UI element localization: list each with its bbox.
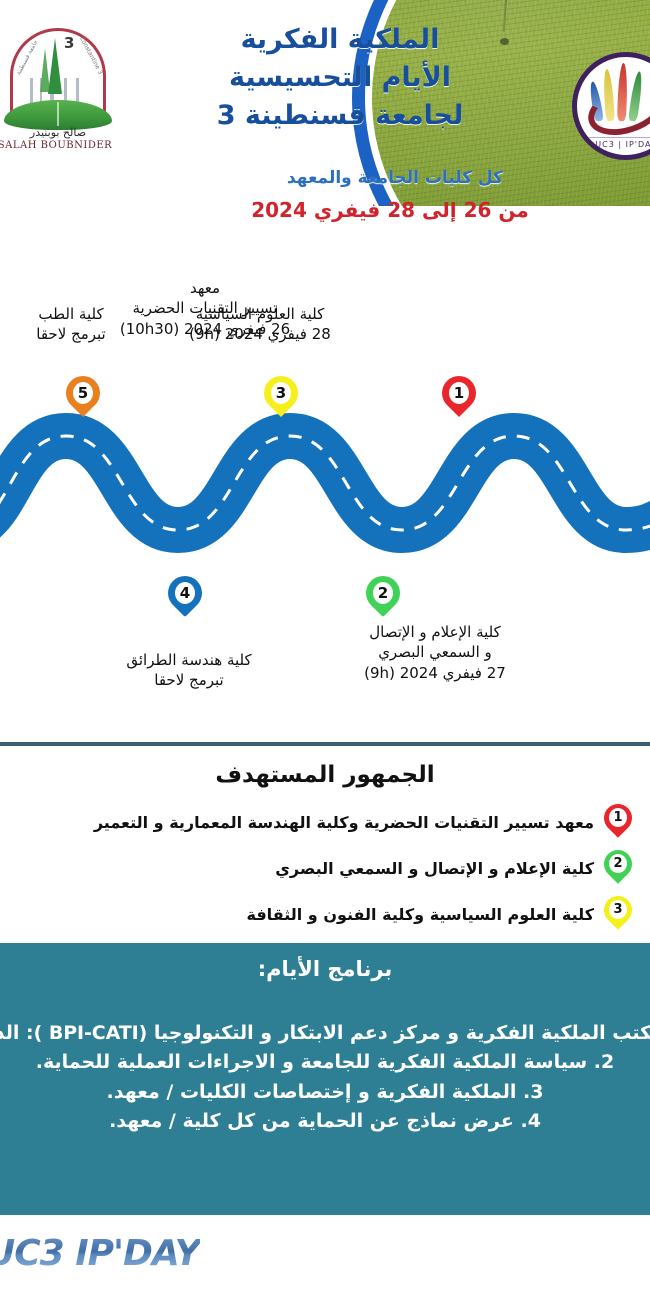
- stop-2-line-3: 27 فيفري 2024 (9h): [330, 663, 540, 683]
- logo-badge-number: 3: [64, 34, 74, 52]
- audience-pin-1[interactable]: 1: [604, 804, 632, 840]
- page-title-line3: لجامعة قسنطينة 3: [170, 100, 510, 132]
- audience-pin-2[interactable]: 2: [604, 850, 632, 886]
- logo-name-french: SALAH BOUBNIDER: [0, 140, 114, 151]
- audience-row-1: 1 معهد تسيير التقنيات الحضرية وكلية الهن…: [32, 804, 632, 840]
- program-section: برنامج الأيام: 1. مكتب الملكية الفكرية و…: [0, 943, 650, 1215]
- poster-header: جامعة قسنطينة Constantine 3 3 صالح بوبني…: [0, 0, 650, 250]
- roadmap-stop-4-label: كلية هندسة الطرائق تبرمج لاحقا: [94, 650, 284, 691]
- roadmap-pin-2[interactable]: 2: [366, 576, 400, 620]
- stop-2-line-1: كلية الإعلام و الإتصال: [330, 622, 540, 642]
- pin-2-number: 2: [373, 582, 393, 604]
- footer-brand: UC3 IP'DAY: [0, 1233, 200, 1274]
- program-item-1: 1. مكتب الملكية الفكرية و مركز دعم الابت…: [0, 1019, 650, 1048]
- audience-row-1-text: معهد تسيير التقنيات الحضرية وكلية الهندس…: [94, 813, 594, 832]
- program-list: 1. مكتب الملكية الفكرية و مركز دعم الابت…: [0, 1019, 650, 1137]
- program-item-4: 4. عرض نماذج عن الحماية من كل كلية / معه…: [0, 1107, 650, 1136]
- logo-name-arabic: صالح بوبنيدر: [2, 126, 114, 139]
- stop-2-line-2: و السمعي البصري: [330, 642, 540, 662]
- audience-pin-3[interactable]: 3: [604, 896, 632, 932]
- roadmap-stop-3-text: كلية العلوم السياسية 28 فيفري 2024 (9h): [150, 304, 370, 345]
- pin-3-number: 3: [271, 382, 291, 404]
- stop-3-line-1: كلية العلوم السياسية: [150, 304, 370, 324]
- stop-1-line-1: معهد: [90, 278, 320, 298]
- program-title: برنامج الأيام:: [0, 957, 650, 981]
- header-subtitle: كل كليات الجامعة والمعهد: [230, 168, 560, 188]
- roadmap-pin-1[interactable]: 1: [442, 376, 476, 420]
- winding-road: [0, 410, 650, 560]
- pin-1-number: 1: [449, 382, 469, 404]
- page-title-line1: الملكية الفكرية: [170, 24, 510, 56]
- audience-row-2-text: كلية الإعلام و الإتصال و السمعي البصري: [275, 859, 594, 878]
- audience-pin-3-number: 3: [609, 900, 627, 919]
- pin-4-number: 4: [175, 582, 195, 604]
- stop-4-line-1: كلية هندسة الطرائق: [94, 650, 284, 670]
- roadmap-pin-4[interactable]: 4: [168, 576, 202, 620]
- poster-footer: UC3 IP'DAY: [0, 1215, 650, 1300]
- stop-5-line-1: كلية الطب: [6, 304, 136, 324]
- stop-3-line-2: 28 فيفري 2024 (9h): [150, 324, 370, 344]
- roadmap-pin-5[interactable]: 5: [66, 376, 100, 420]
- roadmap-stop-5-label: كلية الطب تبرمج لاحقا: [6, 304, 136, 345]
- roadmap-section: معهد تسيير التقنيات الحضرية 26 فيفري 202…: [0, 250, 650, 720]
- audience-pin-1-number: 1: [609, 808, 627, 827]
- audience-row-3: 3 كلية العلوم السياسية وكلية الفنون و ال…: [32, 896, 632, 932]
- audience-title: الجمهور المستهدف: [0, 762, 650, 788]
- program-item-3: 3. الملكية الفكرية و إختصاصات الكليات / …: [0, 1078, 650, 1107]
- event-logo-caption: UC3 | IP'DAY: [577, 137, 650, 149]
- roadmap-stop-2-label: كلية الإعلام و الإتصال و السمعي البصري 2…: [330, 622, 540, 683]
- logo-monument-icon: [48, 38, 62, 94]
- pin-5-number: 5: [73, 382, 93, 404]
- audience-row-3-text: كلية العلوم السياسية وكلية الفنون و الثق…: [247, 905, 595, 924]
- audience-row-2: 2 كلية الإعلام و الإتصال و السمعي البصري: [32, 850, 632, 886]
- stop-5-line-2: تبرمج لاحقا: [6, 324, 136, 344]
- stop-4-line-2: تبرمج لاحقا: [94, 670, 284, 690]
- page-title-line2: الأيام التحسيسية: [170, 62, 510, 94]
- header-date-range: من 26 إلى 28 فيفري 2024: [240, 198, 540, 222]
- roadmap-pin-3[interactable]: 3: [264, 376, 298, 420]
- university-logo: جامعة قسنطينة Constantine 3 3 صالح بوبني…: [2, 22, 114, 154]
- audience-pin-2-number: 2: [609, 854, 627, 873]
- target-audience-section: الجمهور المستهدف 1 معهد تسيير التقنيات ا…: [0, 746, 650, 943]
- program-item-2: 2. سياسة الملكية الفكرية للجامعة و الاجر…: [0, 1048, 650, 1077]
